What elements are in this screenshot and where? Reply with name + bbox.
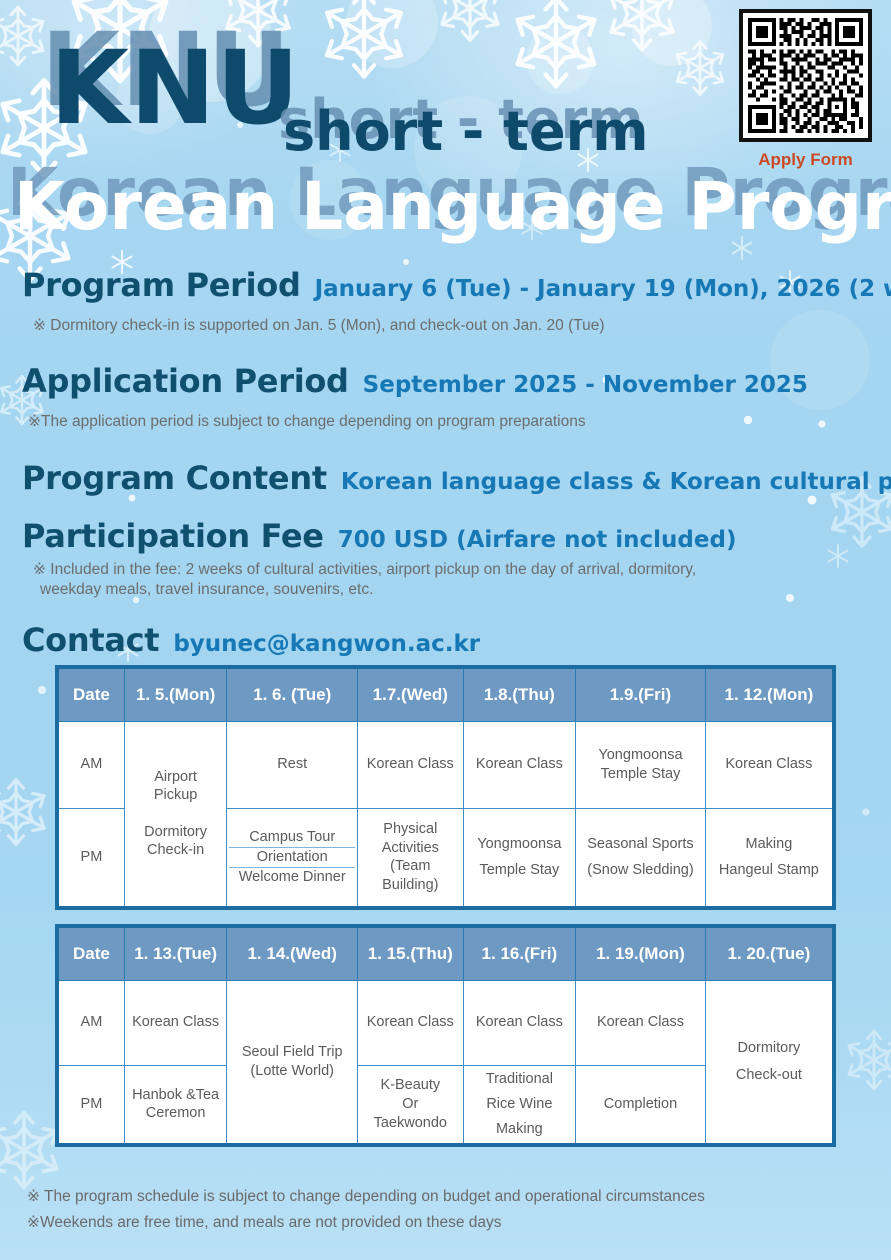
cell-line: Seasonal Sports xyxy=(578,835,703,854)
cell-line: Orientation xyxy=(229,848,355,868)
table-header-row: Date 1. 13.(Tue) 1. 14.(Wed) 1. 15.(Thu)… xyxy=(57,926,834,980)
col-header-jan5: 1. 5.(Mon) xyxy=(124,667,227,721)
col-header-jan16: 1. 16.(Fri) xyxy=(463,926,576,980)
cell-line: Pickup xyxy=(127,786,225,805)
cell-jan13-pm: Hanbok &Tea Ceremon xyxy=(124,1065,227,1145)
cell-jan13-am: Korean Class xyxy=(124,980,227,1065)
col-header-jan9: 1.9.(Fri) xyxy=(576,667,706,721)
cell-jan6-pm: Campus Tour Orientation Welcome Dinner xyxy=(227,808,358,908)
cell-line: Hanbok &Tea xyxy=(127,1086,225,1105)
cell-line: (Team xyxy=(360,857,461,876)
participation-fee-label: Participation Fee xyxy=(22,517,324,555)
program-content-label: Program Content xyxy=(22,459,327,497)
participation-fee-note-line1: ※ Included in the fee: 2 weeks of cultur… xyxy=(0,560,891,580)
col-header-jan7: 1.7.(Wed) xyxy=(358,667,464,721)
cell-line: Making xyxy=(466,1120,574,1139)
cell-jan7-pm: Physical Activities (Team Building) xyxy=(358,808,464,908)
cell-line: Airport xyxy=(127,768,225,787)
poster-canvas: KNU short - term Korean Language Program xyxy=(0,0,891,1260)
cell-line: Dormitory xyxy=(127,823,225,842)
contact-row: Contact byunec@kangwon.ac.kr xyxy=(0,621,891,659)
cell-line: Seoul Field Trip xyxy=(229,1043,355,1062)
participation-fee-note-line2: weekday meals, travel insurance, souveni… xyxy=(0,580,891,600)
col-header-jan15: 1. 15.(Thu) xyxy=(358,926,464,980)
subtitle-short-term: short - term xyxy=(283,105,648,159)
cell-jan7-am: Korean Class xyxy=(358,721,464,808)
cell-line: Yongmoonsa xyxy=(466,835,574,854)
application-period-value: September 2025 - November 2025 xyxy=(363,372,808,398)
cell-line: Rice Wine xyxy=(466,1095,574,1114)
cell-line: Dormitory xyxy=(708,1039,830,1058)
cell-jan15-pm: K-Beauty Or Taekwondo xyxy=(358,1065,464,1145)
cell-line: Yongmoonsa xyxy=(578,746,703,765)
cell-jan12-am: Korean Class xyxy=(705,721,834,808)
col-header-jan13: 1. 13.(Tue) xyxy=(124,926,227,980)
page-title: Korean Language Program xyxy=(14,174,891,240)
cell-line: Physical xyxy=(360,820,461,839)
col-header-date: Date xyxy=(57,926,124,980)
table-header-row: Date 1. 5.(Mon) 1. 6. (Tue) 1.7.(Wed) 1.… xyxy=(57,667,834,721)
cell-line: K-Beauty xyxy=(360,1076,461,1095)
cell-jan14-merged: Seoul Field Trip (Lotte World) xyxy=(227,980,358,1145)
apply-form-qr[interactable]: Apply Form xyxy=(739,9,872,170)
cell-line: Taekwondo xyxy=(360,1114,461,1133)
cell-jan8-am: Korean Class xyxy=(463,721,576,808)
col-header-jan14: 1. 14.(Wed) xyxy=(227,926,358,980)
cell-jan6-am: Rest xyxy=(227,721,358,808)
col-header-jan8: 1.8.(Thu) xyxy=(463,667,576,721)
cell-line: (Lotte World) xyxy=(229,1062,355,1081)
cell-line: Making xyxy=(708,835,830,854)
col-header-jan12: 1. 12.(Mon) xyxy=(705,667,834,721)
qr-code-icon[interactable] xyxy=(739,9,872,142)
cell-jan19-pm: Completion xyxy=(576,1065,706,1145)
cell-line: Traditional xyxy=(466,1070,574,1089)
schedule-tables: Date 1. 5.(Mon) 1. 6. (Tue) 1.7.(Wed) 1.… xyxy=(55,665,836,1147)
program-period-row: Program Period January 6 (Tue) - January… xyxy=(0,266,891,304)
row-label-am: AM xyxy=(57,721,124,808)
footnote-line1: ※ The program schedule is subject to cha… xyxy=(27,1184,867,1210)
application-period-row: Application Period September 2025 - Nove… xyxy=(0,362,891,400)
apply-form-label[interactable]: Apply Form xyxy=(739,150,872,170)
cell-line: Temple Stay xyxy=(578,765,703,784)
cell-line: Campus Tour xyxy=(229,828,355,848)
brand-knu: KNU xyxy=(50,38,300,140)
schedule-table-week2: Date 1. 13.(Tue) 1. 14.(Wed) 1. 15.(Thu)… xyxy=(55,924,836,1147)
contact-label: Contact xyxy=(22,621,159,659)
application-period-label: Application Period xyxy=(22,362,349,400)
cell-jan16-am: Korean Class xyxy=(463,980,576,1065)
program-period-label: Program Period xyxy=(22,266,301,304)
cell-line: Or xyxy=(360,1095,461,1114)
col-header-jan19: 1. 19.(Mon) xyxy=(576,926,706,980)
cell-line: Building) xyxy=(360,876,461,895)
participation-fee-value: 700 USD (Airfare not included) xyxy=(338,527,737,553)
col-header-date: Date xyxy=(57,667,124,721)
participation-fee-row: Participation Fee 700 USD (Airfare not i… xyxy=(0,517,891,555)
program-content-value: Korean language class & Korean cultural … xyxy=(341,469,891,495)
cell-jan9-pm: Seasonal Sports (Snow Sledding) xyxy=(576,808,706,908)
row-label-pm: PM xyxy=(57,808,124,908)
schedule-table-week1: Date 1. 5.(Mon) 1. 6. (Tue) 1.7.(Wed) 1.… xyxy=(55,665,836,910)
table-row-am: AM Korean Class Seoul Field Trip (Lotte … xyxy=(57,980,834,1065)
cell-jan20-merged: Dormitory Check-out xyxy=(705,980,834,1145)
cell-jan12-pm: Making Hangeul Stamp xyxy=(705,808,834,908)
cell-line: Temple Stay xyxy=(466,861,574,880)
cell-line: Activities xyxy=(360,839,461,858)
cell-jan5-merged: Airport Pickup Dormitory Check-in xyxy=(124,721,227,908)
cell-line: Check-out xyxy=(708,1066,830,1085)
footnotes-block: ※ The program schedule is subject to cha… xyxy=(27,1184,867,1235)
cell-line: (Snow Sledding) xyxy=(578,861,703,880)
program-period-note: ※ Dormitory check-in is supported on Jan… xyxy=(0,316,891,336)
row-label-am: AM xyxy=(57,980,124,1065)
application-period-note: ※The application period is subject to ch… xyxy=(0,412,891,432)
footnote-line2: ※Weekends are free time, and meals are n… xyxy=(27,1210,867,1236)
cell-line: Hangeul Stamp xyxy=(708,861,830,880)
cell-jan16-pm: Traditional Rice Wine Making xyxy=(463,1065,576,1145)
cell-jan8-pm: Yongmoonsa Temple Stay xyxy=(463,808,576,908)
cell-jan9-am: Yongmoonsa Temple Stay xyxy=(576,721,706,808)
cell-line: Check-in xyxy=(127,841,225,860)
contact-email[interactable]: byunec@kangwon.ac.kr xyxy=(173,631,480,657)
table-row-am: AM Airport Pickup Dormitory Check-in Res… xyxy=(57,721,834,808)
program-content-row: Program Content Korean language class & … xyxy=(0,459,891,497)
cell-jan15-am: Korean Class xyxy=(358,980,464,1065)
cell-line: Welcome Dinner xyxy=(229,868,355,887)
program-period-value: January 6 (Tue) - January 19 (Mon), 2026… xyxy=(315,276,891,302)
col-header-jan6: 1. 6. (Tue) xyxy=(227,667,358,721)
cell-jan19-am: Korean Class xyxy=(576,980,706,1065)
row-label-pm: PM xyxy=(57,1065,124,1145)
poster-header: KNU short - term Korean Language Program xyxy=(0,0,891,262)
col-header-jan20: 1. 20.(Tue) xyxy=(705,926,834,980)
program-info-block: Program Period January 6 (Tue) - January… xyxy=(0,266,891,659)
cell-line: Ceremon xyxy=(127,1104,225,1123)
